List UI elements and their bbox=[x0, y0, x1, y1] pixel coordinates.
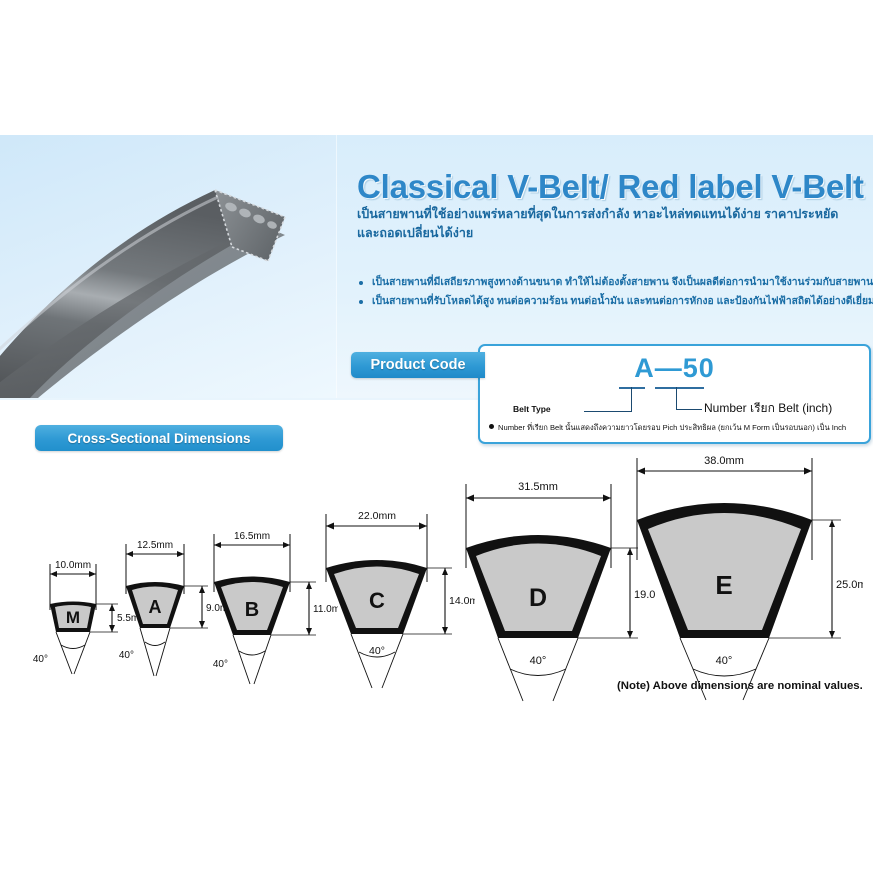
nominal-values-note: (Note) Above dimensions are nominal valu… bbox=[617, 680, 863, 692]
belt-photo-panel bbox=[0, 135, 336, 398]
code-number: 50 bbox=[683, 353, 715, 383]
profile-name-D: D bbox=[529, 584, 547, 612]
dim-top-width-C: 22.0mm bbox=[358, 510, 396, 522]
number-leader-vertical bbox=[676, 387, 677, 410]
list-item: เป็นสายพานที่รับโหลดได้สูง ทนต่อความร้อน… bbox=[358, 292, 870, 311]
footnote-text: Number ที่เรียก Belt นั้นแสดงถึงความยาวโ… bbox=[498, 423, 846, 432]
dim-top-width-A: 12.5mm bbox=[137, 540, 173, 551]
number-leader-horizontal bbox=[676, 409, 702, 410]
feature-bullet-list: เป็นสายพานที่มีเสถียรภาพสูงทางด้านขนาด ท… bbox=[358, 273, 870, 311]
v-belt-photo-icon bbox=[0, 135, 336, 398]
datasheet-page: Classical V-Belt/ Red label V-Belt เป็นส… bbox=[0, 0, 873, 873]
product-code-footnote: Number ที่เรียก Belt นั้นแสดงถึงความยาวโ… bbox=[489, 422, 846, 434]
dim-top-width-E: 38.0mm bbox=[704, 455, 744, 467]
belt-type-leader-vertical bbox=[631, 387, 632, 412]
belt-profile-E: 38.0mm 25.0mm 40° E bbox=[613, 452, 863, 702]
code-number-underline bbox=[655, 387, 704, 389]
angle-label-E: 40° bbox=[716, 655, 733, 667]
angle-label-B: 40° bbox=[213, 659, 228, 670]
belt-type-annotation: Belt Type bbox=[513, 404, 551, 414]
cross-sectional-dimensions-label: Cross-Sectional Dimensions bbox=[35, 425, 283, 451]
dim-top-width-B: 16.5mm bbox=[234, 531, 270, 542]
profile-name-B: B bbox=[245, 599, 259, 621]
profile-name-E: E bbox=[715, 570, 732, 600]
number-annotation: Number เรียก Belt (inch) bbox=[704, 399, 832, 418]
belt-profiles-group: 10.0mm 5.5mm 40° M 12.5mm bbox=[0, 452, 873, 677]
angle-label-M: 40° bbox=[33, 654, 48, 665]
angle-label-C: 40° bbox=[369, 645, 385, 657]
subtitle-line-1: เป็นสายพานที่ใช้อย่างแพร่หลายที่สุดในการ… bbox=[357, 205, 857, 224]
angle-label-D: 40° bbox=[530, 655, 547, 667]
product-code-diagram: A—50 Belt Type Number เรียก Belt (inch) … bbox=[478, 344, 871, 444]
subtitle-line-2: และถอดเปลี่ยนได้ง่าย bbox=[357, 224, 857, 243]
profile-name-M: M bbox=[66, 608, 80, 627]
belt-type-leader-horizontal bbox=[584, 411, 632, 412]
code-dash: — bbox=[655, 353, 683, 383]
bullet-dot-icon bbox=[489, 424, 494, 429]
panel-divider bbox=[336, 135, 337, 398]
page-subtitle: เป็นสายพานที่ใช้อย่างแพร่หลายที่สุดในการ… bbox=[357, 205, 857, 243]
profile-name-A: A bbox=[149, 597, 162, 617]
code-belt-type: A bbox=[634, 353, 655, 383]
dim-height-E: 25.0mm bbox=[836, 579, 863, 591]
product-code-label: Product Code bbox=[351, 352, 485, 378]
angle-label-A: 40° bbox=[119, 650, 134, 661]
dim-top-width-D: 31.5mm bbox=[518, 481, 558, 493]
page-title: Classical V-Belt/ Red label V-Belt bbox=[357, 168, 873, 206]
list-item: เป็นสายพานที่มีเสถียรภาพสูงทางด้านขนาด ท… bbox=[358, 273, 870, 292]
dim-top-width-M: 10.0mm bbox=[55, 560, 91, 571]
profile-name-C: C bbox=[369, 588, 385, 613]
product-code-value: A—50 bbox=[480, 353, 869, 384]
